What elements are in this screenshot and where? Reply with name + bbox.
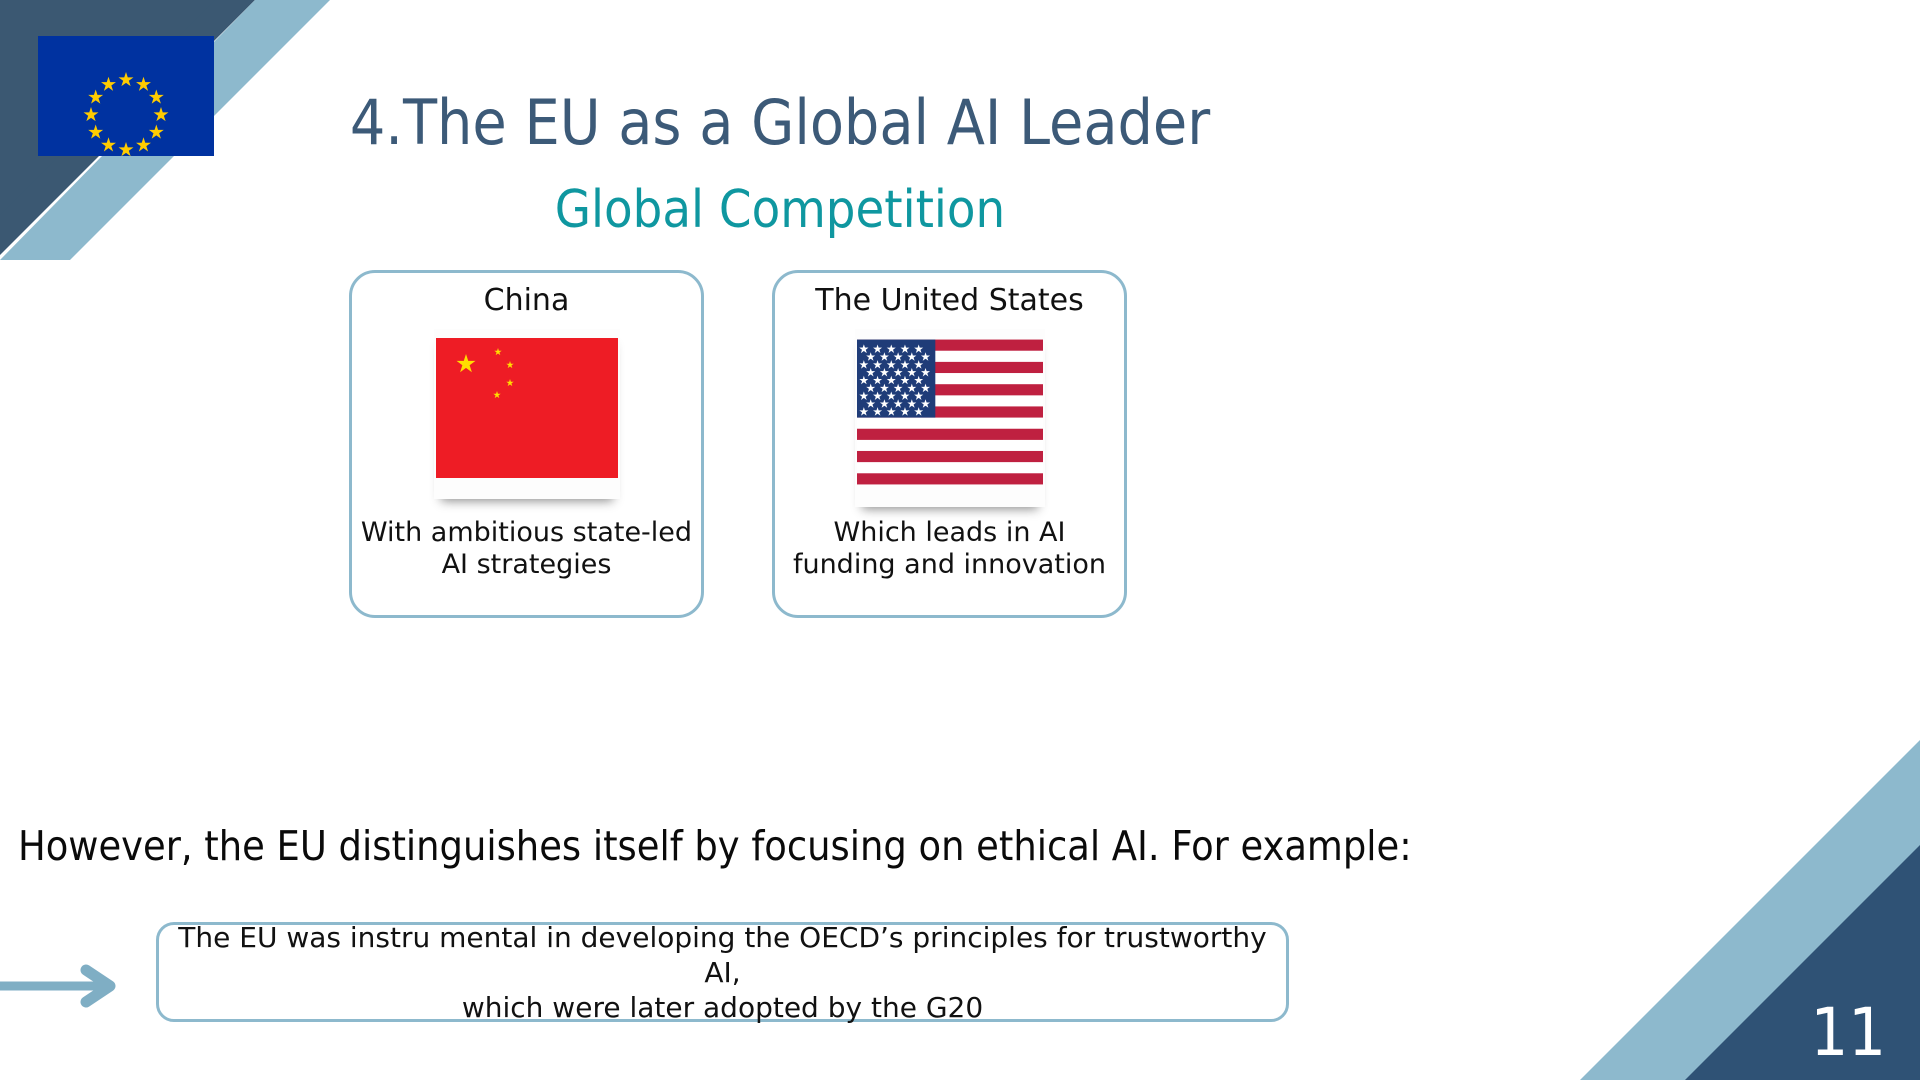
card-caption: With ambitious state-led AI strategies bbox=[346, 517, 707, 582]
card-flag-slot bbox=[352, 329, 701, 519]
united-states-flag-icon bbox=[857, 331, 1043, 493]
page-title: 4.The EU as a Global AI Leader bbox=[0, 92, 1560, 154]
right-arrow-icon bbox=[0, 958, 134, 1014]
page-number: 11 bbox=[1810, 1000, 1886, 1066]
card-caption: Which leads in AI funding and innovation bbox=[781, 517, 1118, 582]
card-flag-slot bbox=[775, 329, 1124, 519]
flag-frame bbox=[855, 329, 1045, 507]
card-china[interactable]: China With ambitious state bbox=[349, 270, 704, 618]
card-united-states[interactable]: The United States bbox=[772, 270, 1127, 618]
callout-box[interactable]: The EU was instru mental in developing t… bbox=[156, 922, 1289, 1022]
statement-text: However, the EU distinguishes itself by … bbox=[18, 822, 1578, 871]
callout-text: The EU was instru mental in developing t… bbox=[159, 920, 1286, 1025]
country-cards: China With ambitious state bbox=[349, 270, 1139, 620]
china-flag-icon bbox=[436, 331, 618, 485]
card-title: China bbox=[344, 283, 709, 319]
title-block: 4.The EU as a Global AI Leader Global Co… bbox=[0, 92, 1560, 236]
card-title: The United States bbox=[767, 283, 1132, 319]
flag-frame bbox=[434, 329, 620, 499]
slide-canvas: 4.The EU as a Global AI Leader Global Co… bbox=[0, 0, 1920, 1080]
page-subtitle: Global Competition bbox=[0, 184, 1560, 236]
